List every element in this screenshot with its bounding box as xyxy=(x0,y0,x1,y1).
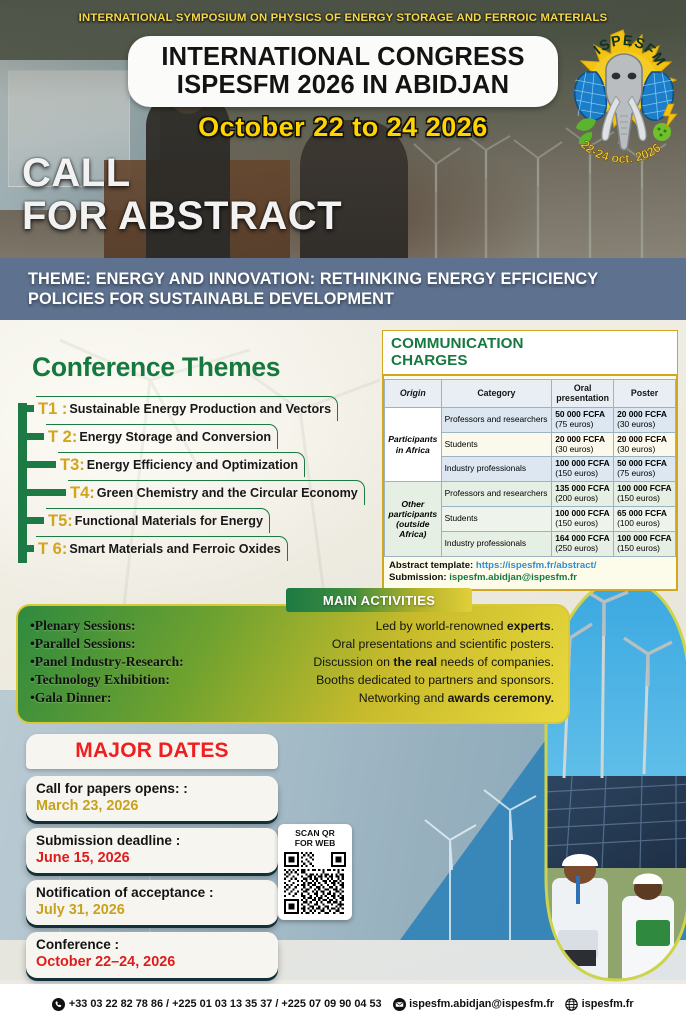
price-fcfa: 100 000 FCFA xyxy=(555,458,609,468)
charges-table: Origin Category Oral presentation Poster… xyxy=(384,379,676,557)
charges-col-oral: Oral presentation xyxy=(552,380,614,408)
charges-category: Professors and researchers xyxy=(441,482,552,507)
qr-code-card[interactable]: SCAN QR FOR WEB xyxy=(278,824,352,920)
charges-poster-price: 20 000 FCFA (30 euros) xyxy=(614,432,676,457)
theme-item-t1[interactable]: T1 : Sustainable Energy Production and V… xyxy=(18,395,338,422)
theme-label: Energy Storage and Conversion xyxy=(79,430,271,444)
call-for-abstract: CALL FOR ABSTRACT xyxy=(22,152,342,238)
footer-email-group[interactable]: ispesfm.abidjan@ispesfm.fr xyxy=(393,998,554,1011)
charges-category: Industry professionals xyxy=(441,457,552,482)
price-eur: (150 euros) xyxy=(555,519,610,529)
activity-label: •Gala Dinner: xyxy=(30,690,248,706)
envelope-icon xyxy=(393,998,406,1011)
origin-line-2: participants xyxy=(388,509,437,519)
theme-label: Smart Materials and Ferroic Oxides xyxy=(69,542,280,556)
theme-label: Energy Efficiency and Optimization xyxy=(87,458,298,472)
charges-col-oral-line-1: Oral xyxy=(574,383,592,393)
footer-email[interactable]: ispesfm.abidjan@ispesfm.fr xyxy=(409,998,554,1010)
charges-poster-price: 65 000 FCFA (100 euros) xyxy=(614,507,676,532)
date-card-submission-deadline: Submission deadline : June 15, 2026 xyxy=(26,828,278,873)
themes-tree: T1 : Sustainable Energy Production and V… xyxy=(18,389,380,567)
theme-connector xyxy=(18,517,44,524)
origin-line-3: (outside xyxy=(396,519,429,529)
date-label: Submission deadline : xyxy=(36,833,268,850)
date-value: June 15, 2026 xyxy=(36,850,268,868)
theme-connector xyxy=(18,461,56,468)
activity-row-plenary: •Plenary Sessions: Led by world-renowned… xyxy=(30,618,554,634)
submission-label: Submission: xyxy=(389,572,447,583)
theme-pill: T3: Energy Efficiency and Optimization xyxy=(58,452,305,477)
price-eur: (75 euros) xyxy=(555,420,610,430)
charges-title-line-2: CHARGES xyxy=(391,352,669,369)
charges-oral-price: 164 000 FCFA (250 euros) xyxy=(552,531,614,556)
theme-item-t4[interactable]: T4: Green Chemistry and the Circular Eco… xyxy=(18,479,365,506)
theme-number: T1 : xyxy=(38,400,67,419)
theme-number: T3: xyxy=(60,456,85,475)
congress-theme-text: THEME: ENERGY AND INNOVATION: RETHINKING… xyxy=(28,269,668,310)
activity-label: •Panel Industry-Research: xyxy=(30,654,248,670)
communication-charges-panel: COMMUNICATION CHARGES Origin Category Or… xyxy=(382,330,678,591)
activity-description: Oral presentations and scientific poster… xyxy=(248,637,554,651)
theme-item-t6[interactable]: T 6: Smart Materials and Ferroic Oxides xyxy=(18,535,288,562)
activity-row-panel: •Panel Industry-Research: Discussion on … xyxy=(30,654,554,670)
main-activities-panel: •Plenary Sessions: Led by world-renowned… xyxy=(16,604,570,724)
footer-website-group[interactable]: ispesfm.fr xyxy=(565,998,634,1011)
desc-bold: experts xyxy=(507,619,551,633)
footer-phones: +33 03 22 82 78 86 / +225 01 03 13 35 37… xyxy=(69,998,382,1010)
charges-poster-price: 100 000 FCFA (150 euros) xyxy=(614,531,676,556)
origin-line-1: Participants xyxy=(388,434,437,444)
abstract-template-link[interactable]: https://ispesfm.fr/abstract/ xyxy=(476,560,596,571)
theme-connector xyxy=(18,433,44,440)
symposium-title: INTERNATIONAL SYMPOSIUM ON PHYSICS OF EN… xyxy=(0,12,686,24)
theme-number: T 6: xyxy=(38,540,67,559)
charges-poster-price: 20 000 FCFA (30 euros) xyxy=(614,407,676,432)
date-card-notification: Notification of acceptance : July 31, 20… xyxy=(26,880,278,925)
origin-line-4: Africa) xyxy=(399,529,426,539)
date-card-conference: Conference : October 22–24, 2026 xyxy=(26,932,278,977)
price-fcfa: 20 000 FCFA xyxy=(555,434,605,444)
charges-oral-price: 20 000 FCFA (30 euros) xyxy=(552,432,614,457)
theme-connector xyxy=(18,405,34,412)
date-label: Call for papers opens: : xyxy=(36,781,268,798)
activity-description: Led by world-renowned experts. xyxy=(248,619,554,633)
price-fcfa: 50 000 FCFA xyxy=(617,458,667,468)
date-value: March 23, 2026 xyxy=(36,798,268,816)
charges-col-origin: Origin xyxy=(385,380,442,408)
activity-label: •Parallel Sessions: xyxy=(30,636,248,652)
phone-icon xyxy=(52,998,65,1011)
theme-connector xyxy=(18,489,66,496)
theme-label: Functional Materials for Energy xyxy=(75,514,263,528)
price-fcfa: 100 000 FCFA xyxy=(555,508,609,518)
date-value: July 31, 2026 xyxy=(36,902,268,920)
origin-line-2: in Africa xyxy=(396,445,430,455)
charges-poster-price: 50 000 FCFA (75 euros) xyxy=(614,457,676,482)
price-fcfa: 50 000 FCFA xyxy=(555,409,605,419)
price-eur: (200 euros) xyxy=(555,494,610,504)
abstract-template-label: Abstract template: xyxy=(389,560,473,571)
contact-footer: +33 03 22 82 78 86 / +225 01 03 13 35 37… xyxy=(0,984,686,1024)
major-dates-title: MAJOR DATES xyxy=(75,739,229,762)
desc-pre: Oral presentations and scientific poster… xyxy=(332,637,554,651)
charges-col-poster: Poster xyxy=(614,380,676,408)
charges-table-header-row: Origin Category Oral presentation Poster xyxy=(385,380,676,408)
activity-description: Discussion on the real needs of companie… xyxy=(248,655,554,669)
price-eur: (250 euros) xyxy=(555,544,610,554)
price-eur: (30 euros) xyxy=(617,445,672,455)
globe-icon xyxy=(565,998,578,1011)
charges-header: COMMUNICATION CHARGES xyxy=(383,331,677,376)
charges-origin-africa: Participants in Africa xyxy=(385,407,442,481)
theme-number: T4: xyxy=(70,484,95,503)
activity-row-parallel: •Parallel Sessions: Oral presentations a… xyxy=(30,636,554,652)
activity-description: Networking and awards ceremony. xyxy=(248,691,554,705)
date-value: October 22–24, 2026 xyxy=(36,954,268,972)
price-eur: (150 euros) xyxy=(617,494,672,504)
price-fcfa: 164 000 FCFA xyxy=(555,533,609,543)
theme-number: T5: xyxy=(48,512,73,531)
charges-col-category: Category xyxy=(441,380,552,408)
congress-title-box: INTERNATIONAL CONGRESS ISPESFM 2026 IN A… xyxy=(128,36,558,107)
submission-email-link[interactable]: ispesfm.abidjan@ispesfm.fr xyxy=(449,572,577,583)
price-eur: (100 euros) xyxy=(617,519,672,529)
price-fcfa: 100 000 FCFA xyxy=(617,533,671,543)
theme-item-t3[interactable]: T3: Energy Efficiency and Optimization xyxy=(18,451,305,478)
charges-category: Students xyxy=(441,507,552,532)
price-fcfa: 135 000 FCFA xyxy=(555,483,609,493)
theme-label: Green Chemistry and the Circular Economy xyxy=(97,486,358,500)
qr-code-icon[interactable] xyxy=(284,852,346,914)
activity-label: •Plenary Sessions: xyxy=(30,618,248,634)
desc-pre: Led by world-renowned xyxy=(376,619,507,633)
call-line-2: FOR ABSTRACT xyxy=(22,195,342,238)
charges-col-oral-line-2: presentation xyxy=(556,393,609,403)
theme-pill: T5: Functional Materials for Energy xyxy=(46,508,270,533)
submission-row: Submission: ispesfm.abidjan@ispesfm.fr xyxy=(389,572,671,584)
congress-theme-band: THEME: ENERGY AND INNOVATION: RETHINKING… xyxy=(0,258,686,320)
charges-poster-price: 100 000 FCFA (150 euros) xyxy=(614,482,676,507)
price-eur: (30 euros) xyxy=(555,445,610,455)
price-eur: (150 euros) xyxy=(555,469,610,479)
charges-links: Abstract template: https://ispesfm.fr/ab… xyxy=(384,557,676,586)
charges-oral-price: 135 000 FCFA (200 euros) xyxy=(552,482,614,507)
desc-pre: Discussion on xyxy=(313,655,393,669)
price-eur: (30 euros) xyxy=(617,420,672,430)
charges-oral-price: 100 000 FCFA (150 euros) xyxy=(552,507,614,532)
logo-elephant-head xyxy=(602,54,646,150)
theme-pill: T4: Green Chemistry and the Circular Eco… xyxy=(68,480,365,505)
conference-themes-title: Conference Themes xyxy=(32,352,380,383)
theme-pill: T 6: Smart Materials and Ferroic Oxides xyxy=(36,536,288,561)
date-label: Conference : xyxy=(36,937,268,954)
theme-number: T 2: xyxy=(48,428,77,447)
desc-pre: Networking and xyxy=(359,691,448,705)
table-row: Other participants (outside Africa) Prof… xyxy=(385,482,676,507)
table-row: Participants in Africa Professors and re… xyxy=(385,407,676,432)
theme-pill: T1 : Sustainable Energy Production and V… xyxy=(36,396,338,421)
date-card-call-for-papers: Call for papers opens: : March 23, 2026 xyxy=(26,776,278,821)
price-fcfa: 20 000 FCFA xyxy=(617,434,667,444)
activity-row-gala: •Gala Dinner: Networking and awards cere… xyxy=(30,690,554,706)
theme-connector xyxy=(18,545,34,552)
charges-category: Industry professionals xyxy=(441,531,552,556)
theme-item-t2[interactable]: T 2: Energy Storage and Conversion xyxy=(18,423,278,450)
major-dates-title-card: MAJOR DATES xyxy=(26,734,278,769)
desc-post: needs of companies. xyxy=(437,655,554,669)
main-activities-tab: MAIN ACTIVITIES xyxy=(286,588,472,612)
charges-category: Professors and researchers xyxy=(441,407,552,432)
charges-oral-price: 100 000 FCFA (150 euros) xyxy=(552,457,614,482)
theme-item-t5[interactable]: T5: Functional Materials for Energy xyxy=(18,507,270,534)
ispesfm-elephant-logo: ISPESFM 22-24 oct. 2026 xyxy=(562,24,684,164)
charges-category: Students xyxy=(441,432,552,457)
date-label: Notification of acceptance : xyxy=(36,885,268,902)
price-eur: (75 euros) xyxy=(617,469,672,479)
charges-origin-other: Other participants (outside Africa) xyxy=(385,482,442,556)
qr-label-line-1: SCAN QR xyxy=(295,828,335,838)
main-activities-title: MAIN ACTIVITIES xyxy=(323,593,435,608)
footer-phone-group: +33 03 22 82 78 86 / +225 01 03 13 35 37… xyxy=(52,998,381,1011)
charges-oral-price: 50 000 FCFA (75 euros) xyxy=(552,407,614,432)
call-line-1: CALL xyxy=(22,152,342,195)
price-eur: (150 euros) xyxy=(617,544,672,554)
activity-row-exhibition: •Technology Exhibition: Booths dedicated… xyxy=(30,672,554,688)
price-fcfa: 65 000 FCFA xyxy=(617,508,667,518)
price-fcfa: 20 000 FCFA xyxy=(617,409,667,419)
congress-title-line-2: ISPESFM 2026 IN ABIDJAN xyxy=(138,71,548,99)
qr-label-line-2: FOR WEB xyxy=(295,838,336,848)
origin-line-1: Other xyxy=(401,499,424,509)
desc-pre: Booths dedicated to partners and sponsor… xyxy=(316,673,554,687)
desc-bold: awards ceremony. xyxy=(448,691,554,705)
conference-themes-section: Conference Themes T1 : Sustainable Energ… xyxy=(18,352,380,567)
desc-post: . xyxy=(551,619,554,633)
footer-website[interactable]: ispesfm.fr xyxy=(582,998,634,1010)
congress-date: October 22 to 24 2026 xyxy=(128,112,558,143)
poster-root: INTERNATIONAL SYMPOSIUM ON PHYSICS OF EN… xyxy=(0,0,686,1024)
desc-bold: the real xyxy=(393,655,437,669)
congress-title-line-1: INTERNATIONAL CONGRESS xyxy=(138,43,548,71)
theme-label: Sustainable Energy Production and Vector… xyxy=(69,402,331,416)
price-fcfa: 100 000 FCFA xyxy=(617,483,671,493)
charges-title-line-1: COMMUNICATION xyxy=(391,335,669,352)
abstract-template-row: Abstract template: https://ispesfm.fr/ab… xyxy=(389,560,671,572)
major-dates-section: MAJOR DATES Call for papers opens: : Mar… xyxy=(26,734,278,978)
qr-label: SCAN QR FOR WEB xyxy=(283,829,347,849)
theme-pill: T 2: Energy Storage and Conversion xyxy=(46,424,278,449)
activity-description: Booths dedicated to partners and sponsor… xyxy=(248,673,554,687)
activity-label: •Technology Exhibition: xyxy=(30,672,248,688)
